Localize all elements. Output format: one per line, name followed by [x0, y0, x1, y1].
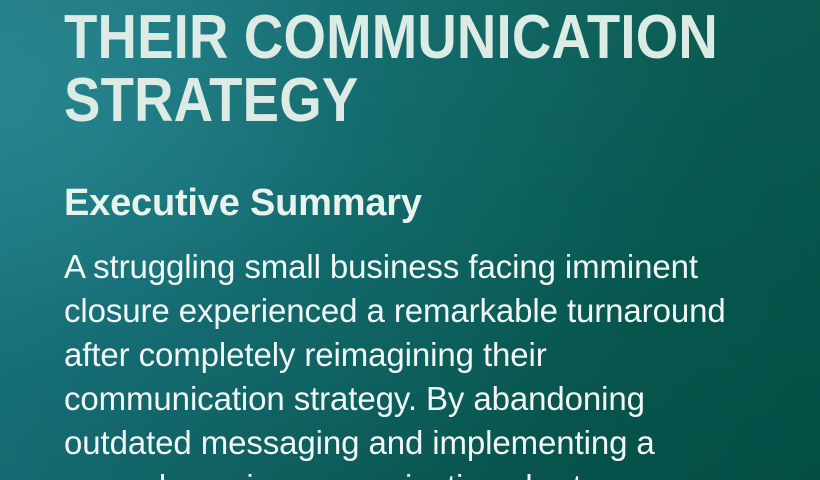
paragraph-line-6-clipped: more dynamic communication chart — [64, 465, 786, 480]
paragraph-line-3: after completely reimagining their — [64, 333, 786, 377]
slide-headline: THEIR COMMUNICATION STRATEGY — [64, 0, 699, 132]
slide-canvas: THEIR COMMUNICATION STRATEGY Executive S… — [0, 0, 820, 480]
section-heading-executive-summary: Executive Summary — [64, 181, 422, 225]
executive-summary-paragraph: A struggling small business facing immin… — [64, 245, 786, 480]
headline-line-2: STRATEGY — [64, 69, 699, 132]
paragraph-line-1: A struggling small business facing immin… — [64, 245, 786, 289]
paragraph-line-4: communication strategy. By abandoning — [64, 377, 786, 421]
paragraph-line-2: closure experienced a remarkable turnaro… — [64, 289, 786, 333]
headline-line-1: THEIR COMMUNICATION — [64, 6, 699, 69]
paragraph-line-5: outdated messaging and implementing a — [64, 421, 786, 465]
slide-content: THEIR COMMUNICATION STRATEGY Executive S… — [64, 0, 786, 132]
